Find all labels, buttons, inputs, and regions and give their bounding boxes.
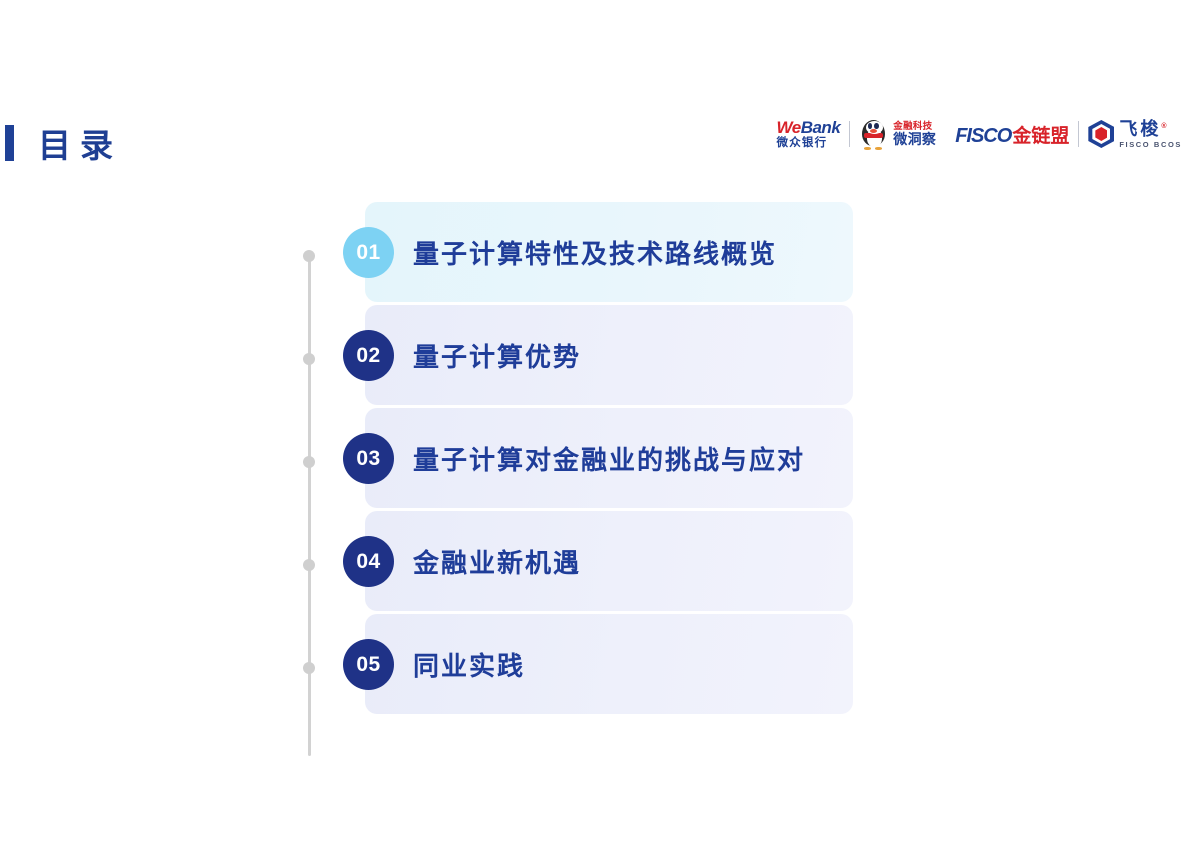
- toc-item-label: 金融业新机遇: [413, 511, 581, 611]
- logo-fisco-cn: 金链盟: [1012, 121, 1069, 148]
- toc-number-badge: 01: [343, 227, 394, 278]
- toc-number-badge: 02: [343, 330, 394, 381]
- page-title-group: 目录: [0, 118, 122, 168]
- logo-weidongcha: 金融科技 微洞察: [859, 114, 936, 154]
- logo-strip: WeBank 微众银行 金融科技 微洞察 FISCO 金链盟: [777, 112, 1183, 156]
- page-title: 目录: [38, 119, 122, 167]
- logo-divider: [1078, 121, 1079, 147]
- toc-item-05[interactable]: 05 同业实践: [365, 614, 853, 714]
- logo-webank-bank: Bank: [801, 118, 841, 137]
- timeline-dot: [303, 250, 315, 262]
- logo-webank-we: We: [777, 118, 801, 137]
- toc-number-badge: 05: [343, 639, 394, 690]
- logo-webank: WeBank 微众银行: [777, 114, 841, 154]
- toc-item-01[interactable]: 01 量子计算特性及技术路线概览: [365, 202, 853, 302]
- logo-weidongcha-top: 金融科技: [893, 122, 936, 132]
- logo-divider: [849, 121, 850, 147]
- toc-number-badge: 03: [343, 433, 394, 484]
- logo-weidongcha-bottom: 微洞察: [893, 132, 936, 146]
- title-accent-bar: [5, 125, 14, 161]
- timeline-dot: [303, 456, 315, 468]
- timeline-dot: [303, 662, 315, 674]
- toc-item-03[interactable]: 03 量子计算对金融业的挑战与应对: [365, 408, 853, 508]
- logo-fisco-jinlianmeng: FISCO 金链盟: [955, 114, 1069, 154]
- toc-item-04[interactable]: 04 金融业新机遇: [365, 511, 853, 611]
- toc-item-label: 量子计算优势: [413, 305, 581, 405]
- logo-fisco-en: FISCO: [955, 125, 1011, 148]
- timeline-dot: [303, 353, 315, 365]
- toc-list: 01 量子计算特性及技术路线概览 02 量子计算优势 03 量子计算对金融业的挑…: [365, 202, 853, 717]
- toc-item-label: 量子计算特性及技术路线概览: [413, 202, 777, 302]
- toc-item-label: 同业实践: [413, 614, 525, 714]
- logo-feisuo-en: FISCO BCOS: [1119, 141, 1182, 149]
- hexagon-shield-icon: [1088, 120, 1114, 148]
- timeline-rail: [308, 256, 311, 756]
- toc-item-label: 量子计算对金融业的挑战与应对: [413, 408, 805, 508]
- penguin-icon: [859, 119, 889, 150]
- logo-feisuo: 飞梭® FISCO BCOS: [1088, 114, 1182, 154]
- logo-feisuo-cn: 飞梭: [1119, 119, 1161, 139]
- toc-number-badge: 04: [343, 536, 394, 587]
- logo-webank-cn: 微众银行: [777, 138, 841, 150]
- timeline-dot: [303, 559, 315, 571]
- registered-mark-icon: ®: [1161, 123, 1169, 130]
- toc-item-02[interactable]: 02 量子计算优势: [365, 305, 853, 405]
